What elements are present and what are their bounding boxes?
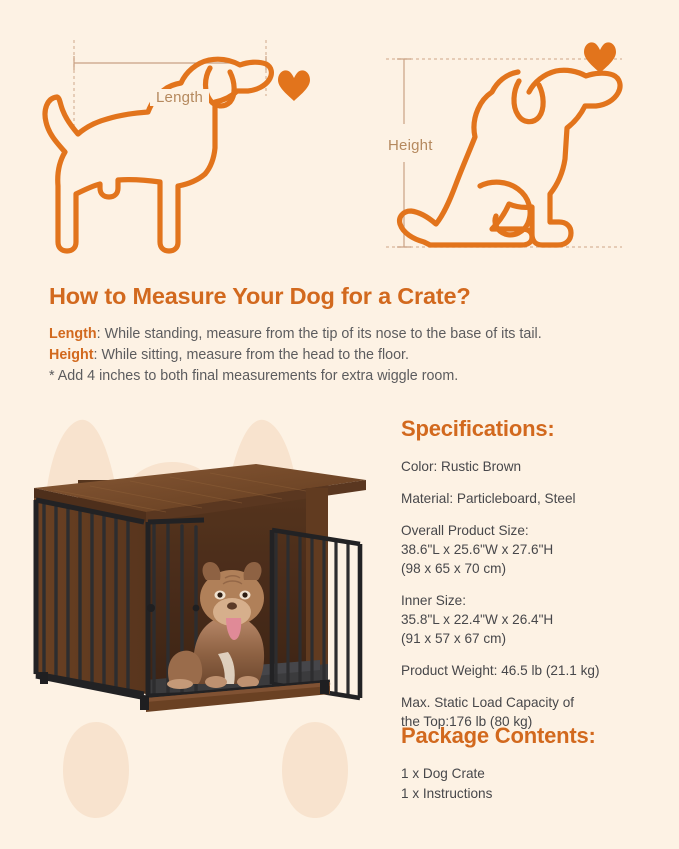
package-item-crate: 1 x Dog Crate xyxy=(401,764,663,784)
specifications-title: Specifications: xyxy=(401,416,663,441)
measure-text-length: While standing, measure from the tip of … xyxy=(105,326,542,342)
heart-icon xyxy=(278,70,310,101)
measure-section-title: How to Measure Your Dog for a Crate? xyxy=(49,283,649,310)
measure-key-length: Length xyxy=(49,326,97,342)
spec-item-material: Material: Particleboard, Steel xyxy=(401,489,663,508)
measure-sep-length: : xyxy=(97,326,105,342)
spec-item-inner-size: Inner Size: 35.8"L x 22.4"W x 26.4"H (91… xyxy=(401,591,663,648)
package-item-instructions: 1 x Instructions xyxy=(401,784,663,804)
measure-section: How to Measure Your Dog for a Crate? Len… xyxy=(49,283,649,387)
measure-line-height: Height: While sitting, measure from the … xyxy=(49,345,649,366)
spec-item-overall-size: Overall Product Size: 38.6"L x 25.6"W x … xyxy=(401,521,663,578)
measure-text-height: While sitting, measure from the head to … xyxy=(101,347,409,363)
measure-line-length: Length: While standing, measure from the… xyxy=(49,324,649,345)
height-diagram: Height xyxy=(372,34,658,266)
length-diagram: Length xyxy=(34,34,354,266)
measure-note: * Add 4 inches to both final measurement… xyxy=(49,366,649,387)
measurement-diagrams: Length xyxy=(0,0,679,272)
heart-icon xyxy=(584,42,616,73)
standing-dog-outline-icon xyxy=(34,34,354,266)
height-label: Height xyxy=(382,137,439,154)
specifications-section: Specifications: Color: Rustic Brown Mate… xyxy=(401,416,663,744)
dog-crate-end-table-photo xyxy=(20,432,380,732)
package-contents-section: Package Contents: 1 x Dog Crate 1 x Inst… xyxy=(401,723,663,803)
spec-item-product-weight: Product Weight: 46.5 lb (21.1 kg) xyxy=(401,661,663,680)
measure-key-height: Height xyxy=(49,347,93,363)
product-infographic-page: Length xyxy=(0,0,679,849)
package-contents-title: Package Contents: xyxy=(401,723,663,748)
spec-item-color: Color: Rustic Brown xyxy=(401,457,663,476)
length-label: Length xyxy=(150,89,209,106)
